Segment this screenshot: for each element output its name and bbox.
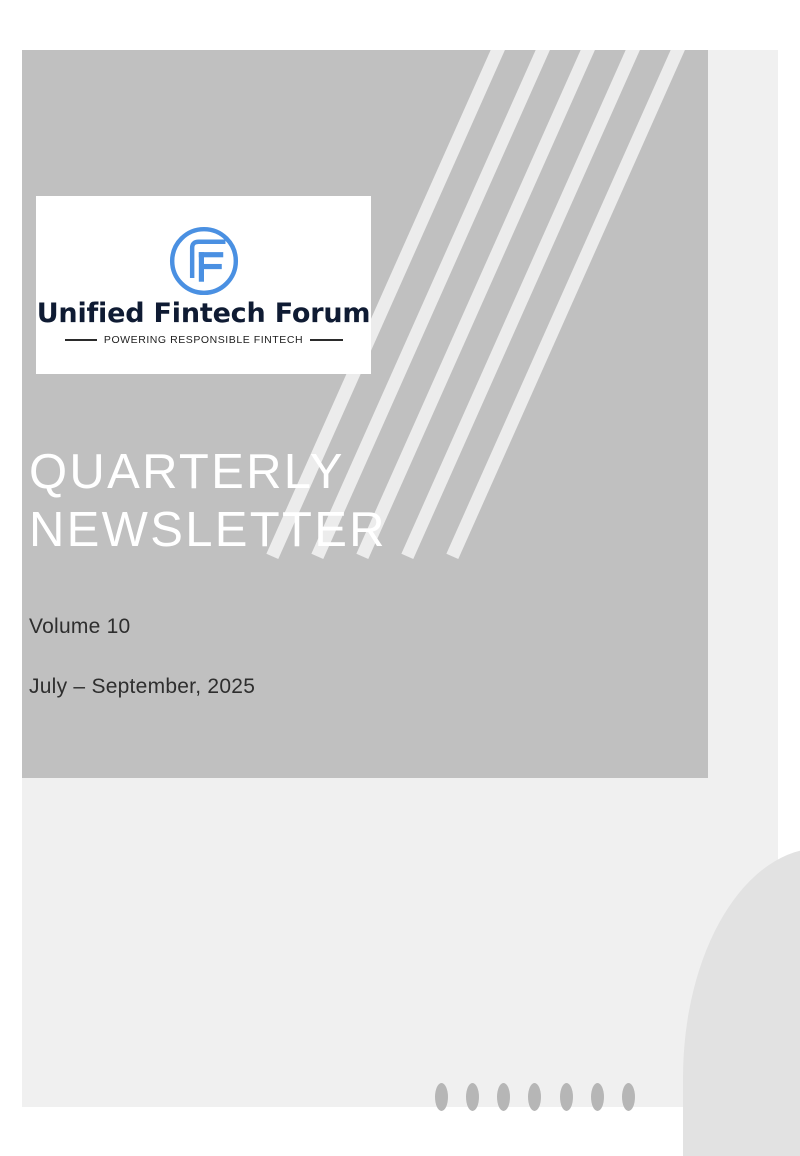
dot-5 [560, 1083, 573, 1111]
dot-4 [528, 1083, 541, 1111]
period-label: July – September, 2025 [29, 675, 629, 699]
logo-tagline: POWERING RESPONSIBLE FINTECH [97, 334, 310, 346]
uff-monogram-icon [167, 224, 241, 298]
logo-tagline-row: POWERING RESPONSIBLE FINTECH [65, 334, 343, 346]
page-title-line-2: NEWSLETTER [29, 501, 669, 559]
dot-1 [435, 1083, 448, 1111]
dot-6 [591, 1083, 604, 1111]
logo-card: Unified Fintech Forum POWERING RESPONSIB… [36, 196, 371, 374]
newsletter-cover-page: Unified Fintech Forum POWERING RESPONSIB… [0, 0, 800, 1156]
dot-3 [497, 1083, 510, 1111]
tagline-rule-left [65, 339, 97, 341]
dot-row-decoration [435, 1080, 635, 1114]
page-title-line-1: QUARTERLY [29, 443, 669, 501]
dot-2 [466, 1083, 479, 1111]
volume-label: Volume 10 [29, 615, 629, 639]
page-title: QUARTERLY NEWSLETTER [29, 443, 669, 559]
tagline-rule-right [310, 339, 342, 341]
issue-meta: Volume 10 July – September, 2025 [29, 615, 629, 699]
dot-7 [622, 1083, 635, 1111]
logo-wordmark: Unified Fintech Forum [37, 300, 371, 327]
